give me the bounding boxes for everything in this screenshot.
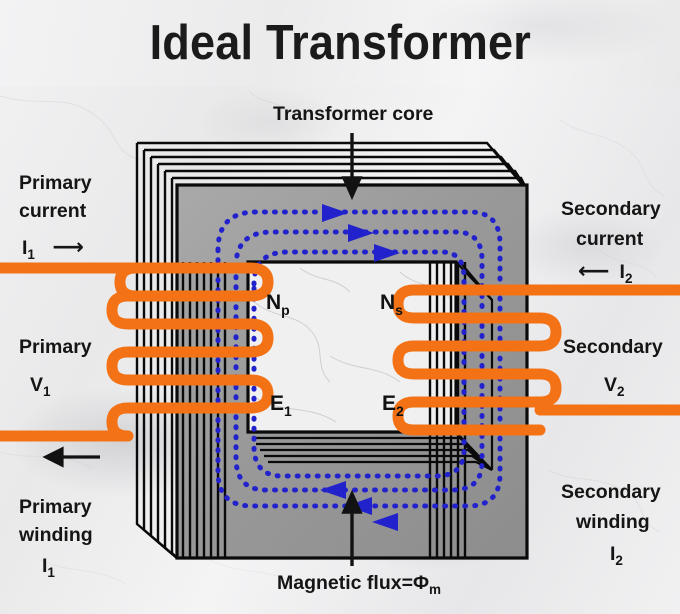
np-sub: p: [281, 302, 290, 318]
label-secondary-current-symbol: ⟵I2: [578, 258, 632, 292]
label-primary-winding-line1: Primary: [19, 494, 92, 520]
label-secondary-voltage-line1: Secondary: [563, 334, 663, 360]
e2-symbol: E: [382, 392, 396, 415]
label-secondary-voltage-symbol: V2: [604, 372, 625, 405]
label-primary-voltage-line1: Primary: [19, 334, 92, 360]
label-primary-winding-symbol: I1: [42, 553, 55, 586]
label-primary-current-line1: Primary: [19, 170, 92, 196]
label-secondary-winding-line1: Secondary: [561, 479, 661, 505]
secondary-voltage-V-sub: 2: [617, 384, 625, 399]
e2-sub: 2: [396, 403, 404, 419]
label-primary-current-symbol: I1 ⟶: [22, 234, 84, 268]
title-bar: Ideal Transformer: [0, 0, 680, 86]
label-secondary-winding-symbol: I2: [610, 541, 623, 574]
primary-current-arrow-icon: ⟶: [52, 234, 84, 260]
label-ns: Ns: [380, 291, 403, 318]
label-magnetic-flux-sub: m: [429, 582, 441, 597]
ns-sub: s: [395, 302, 403, 318]
ns-symbol: N: [380, 291, 395, 314]
label-primary-voltage-symbol: V1: [30, 372, 51, 405]
secondary-current-I-sub: 2: [625, 271, 633, 286]
label-primary-winding-line2: winding: [19, 522, 93, 548]
label-e2: E2: [382, 392, 404, 419]
primary-winding-I-sub: 1: [47, 565, 55, 580]
label-np: Np: [266, 291, 290, 318]
primary-current-I-sub: 1: [27, 247, 35, 262]
e1-symbol: E: [270, 392, 284, 415]
np-symbol: N: [266, 291, 281, 314]
label-secondary-current-line2: current: [576, 226, 643, 252]
secondary-voltage-V: V: [604, 374, 617, 396]
secondary-current-arrow-icon: ⟵: [578, 258, 610, 284]
primary-voltage-V-sub: 1: [43, 384, 51, 399]
label-transformer-core: Transformer core: [273, 101, 433, 127]
label-secondary-winding-line2: winding: [576, 509, 650, 535]
label-secondary-current-line1: Secondary: [561, 196, 661, 222]
primary-voltage-V: V: [30, 374, 43, 396]
diagram-canvas: Ideal Transformer: [0, 0, 680, 614]
label-e1: E1: [270, 392, 292, 419]
label-magnetic-flux: Magnetic flux=Φm: [277, 570, 441, 603]
label-magnetic-flux-text: Magnetic flux=Φ: [277, 572, 429, 594]
label-primary-current-line2: current: [19, 198, 86, 224]
secondary-winding-I-sub: 2: [615, 553, 623, 568]
page-title: Ideal Transformer: [149, 15, 530, 71]
e1-sub: 1: [284, 403, 292, 419]
